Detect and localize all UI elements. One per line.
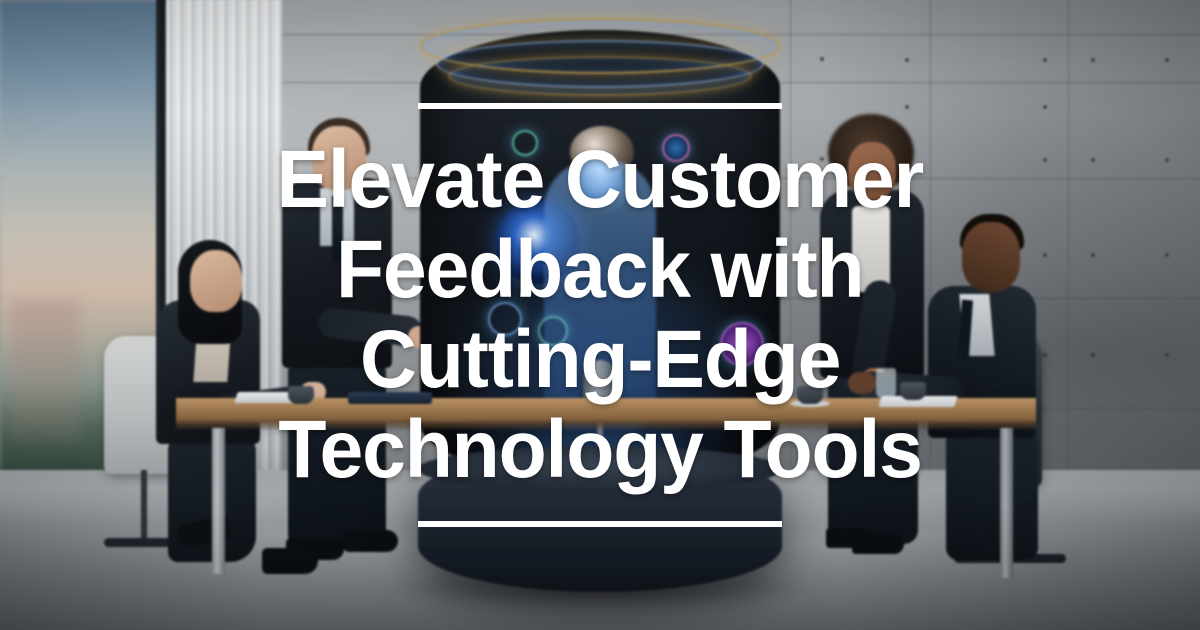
headline-rule-bottom xyxy=(418,521,782,527)
headline-text-block: Elevate Customer Feedback with Cutting-E… xyxy=(263,135,937,495)
headline-overlay: Elevate Customer Feedback with Cutting-E… xyxy=(0,0,1200,630)
hero-banner: Elevate Customer Feedback with Cutting-E… xyxy=(0,0,1200,630)
headline-rule-top xyxy=(418,103,782,109)
headline-line-3: Cutting-Edge xyxy=(360,315,840,405)
headline-line-2: Feedback with xyxy=(336,225,863,315)
headline-line-4: Technology Tools xyxy=(278,405,921,495)
headline-line-1: Elevate Customer xyxy=(277,135,924,225)
